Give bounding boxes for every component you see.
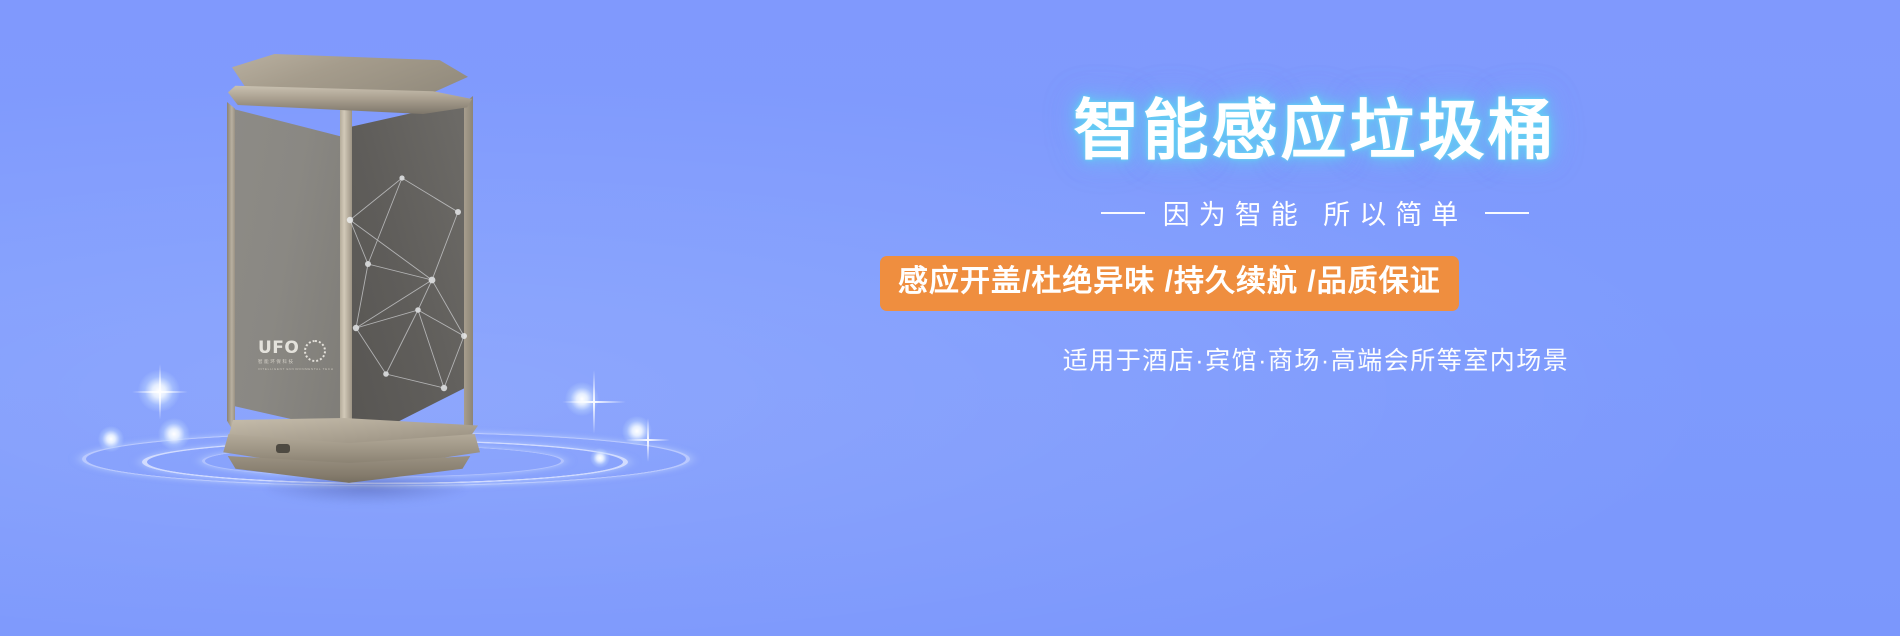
bin-edge-left	[227, 102, 235, 434]
rule-right	[1485, 212, 1529, 214]
sparkle-glow-3	[98, 426, 124, 452]
subline-row: 因为智能 所以简单	[860, 193, 1760, 232]
banner-copy: 智能感应垃圾桶 因为智能 所以简单 感应开盖/杜绝异味 /持久续航 /品质保证 …	[860, 96, 1760, 377]
tagline-badge: 感应开盖/杜绝异味 /持久续航 /品质保证	[880, 256, 1459, 311]
sparkle-glow-4	[565, 382, 599, 416]
sparkle-glow-6	[590, 448, 610, 468]
promo-banner: UFO 智能环保科技 INTELLIGENT ENVIRONMENTAL TEC…	[0, 0, 1900, 636]
bin-base-latch	[276, 444, 290, 453]
subline: 因为智能 所以简单	[1163, 193, 1468, 232]
sparkle-glow-1	[138, 370, 180, 412]
product-illustration: UFO 智能环保科技 INTELLIGENT ENVIRONMENTAL TEC…	[70, 30, 710, 530]
brand-logo-subtext-en: INTELLIGENT ENVIRONMENTAL TECH	[258, 367, 330, 371]
sparkle-glow-5	[622, 416, 652, 446]
bin-network-graphic	[340, 160, 480, 420]
tagline-text: 感应开盖/杜绝异味 /持久续航 /品质保证	[898, 265, 1441, 298]
scenes-text: 适用于酒店·宾馆·商场·高端会所等室内场景	[860, 341, 1760, 377]
smart-trash-bin: UFO 智能环保科技 INTELLIGENT ENVIRONMENTAL TEC…	[180, 40, 510, 460]
brand-logo: UFO 智能环保科技 INTELLIGENT ENVIRONMENTAL TEC…	[258, 340, 330, 386]
logo-ring-icon	[304, 340, 326, 362]
sparkle-star-1	[562, 370, 626, 434]
rule-left	[1101, 212, 1145, 214]
headline: 智能感应垃圾桶	[860, 96, 1760, 165]
sparkle-star-2	[626, 418, 670, 462]
